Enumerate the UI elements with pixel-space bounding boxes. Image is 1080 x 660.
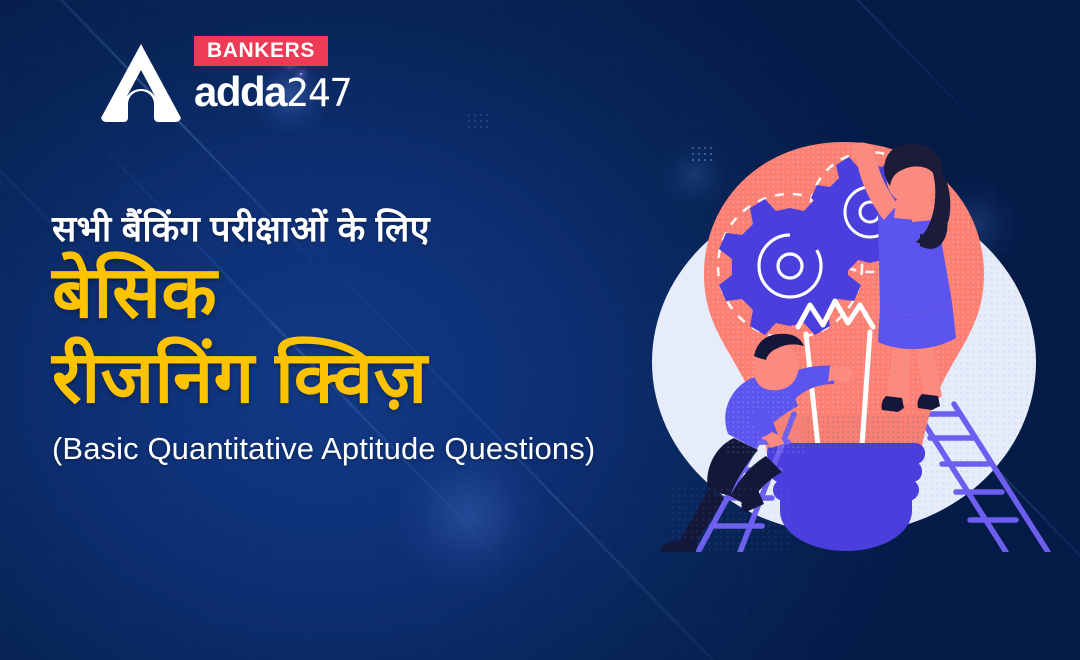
brand-wordmark: BANKERS adda247 — [194, 36, 352, 113]
headline-title-line1: बेसिक — [52, 251, 662, 336]
adda-word: adda — [194, 68, 286, 115]
lightbulb-illustration — [612, 116, 1080, 552]
bankers-badge: BANKERS — [194, 36, 328, 66]
adda-number: 247 — [286, 71, 352, 115]
headline-block: सभी बैंकिंग परीक्षाओं के लिए बेसिक रीजनि… — [52, 206, 662, 467]
brand-logo[interactable]: BANKERS adda247 — [98, 36, 328, 134]
background-dot-grid — [466, 112, 492, 128]
promo-banner: BANKERS adda247 सभी बैंकिंग परीक्षाओं के… — [0, 0, 1080, 660]
headline-subtitle: (Basic Quantitative Aptitude Questions) — [52, 431, 662, 467]
headline-eyebrow: सभी बैंकिंग परीक्षाओं के लिए — [52, 206, 662, 251]
adda247-triangle-logo-icon — [98, 40, 184, 126]
adda247-wordmark: adda247 — [194, 71, 352, 113]
headline-title-line2: रीजनिंग क्विज़ — [52, 336, 662, 421]
bulb-screw-base — [767, 443, 925, 551]
